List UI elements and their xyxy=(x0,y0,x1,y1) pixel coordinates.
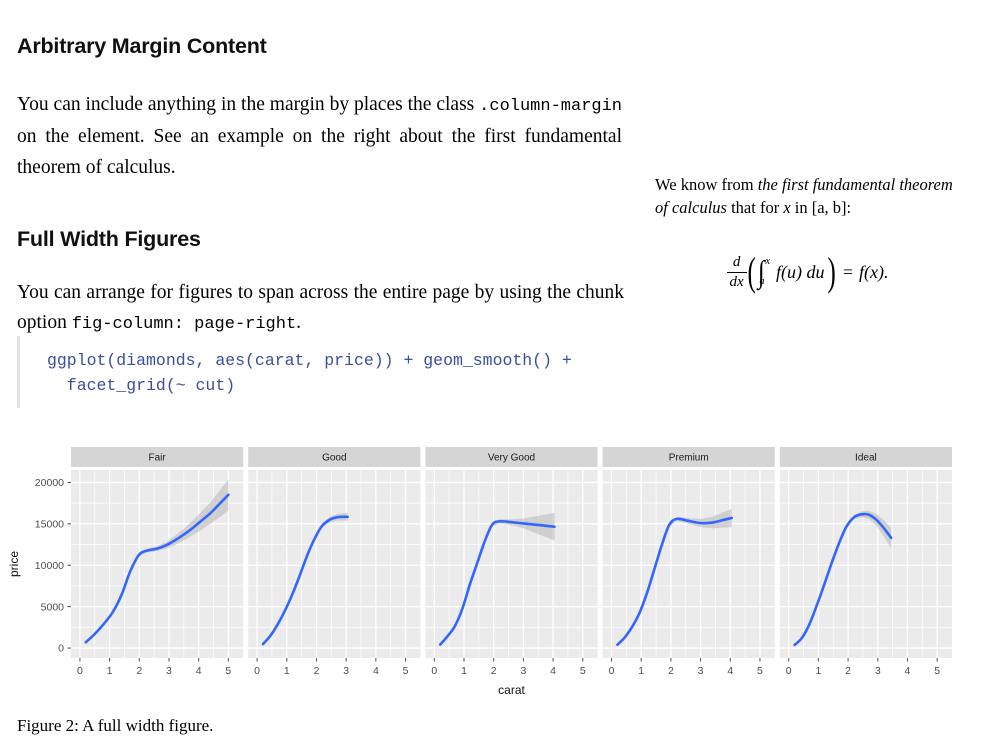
x-tick-label: 3 xyxy=(698,665,704,677)
derivative-fraction: d dx xyxy=(727,254,747,289)
integral-sign: ∫ xyxy=(758,261,765,283)
x-tick-label: 0 xyxy=(254,665,260,677)
margin-note: We know from the first fundamental theor… xyxy=(655,173,960,219)
x-tick-label: 0 xyxy=(431,665,437,677)
figure-full-width: Fair012345Good012345Very Good012345Premi… xyxy=(0,430,1000,749)
figure-caption: Figure 2: A full width figure. xyxy=(17,716,213,736)
y-tick-label: 20000 xyxy=(35,477,64,489)
facet-strip-label-very-good: Very Good xyxy=(488,453,535,464)
integral-group: ∫ x a xyxy=(757,256,770,288)
x-tick-label: 2 xyxy=(491,665,497,677)
x-tick-label: 2 xyxy=(845,665,851,677)
x-tick-label: 2 xyxy=(668,665,674,677)
x-tick-label: 1 xyxy=(638,665,644,677)
paragraph-full-width: You can arrange for figures to span acro… xyxy=(17,278,624,341)
code-line-2: facet_grid(~ cut) xyxy=(47,376,235,395)
x-tick-label: 5 xyxy=(403,665,409,677)
y-tick-label: 5000 xyxy=(41,601,65,613)
inline-code-fig-column: fig-column: page-right xyxy=(72,315,296,334)
fraction-denominator: dx xyxy=(727,272,747,290)
margin-formula: d dx ( ∫ x a f(u) du ) = f(x). xyxy=(655,243,960,301)
margin-note-text-before: We know from xyxy=(655,175,758,194)
x-tick-label: 4 xyxy=(727,665,733,677)
page-title-arbitrary-margin-content: Arbitrary Margin Content xyxy=(17,34,267,59)
equals-sign: = xyxy=(843,262,853,283)
x-tick-label: 3 xyxy=(520,665,526,677)
x-tick-label: 5 xyxy=(934,665,940,677)
x-tick-label: 1 xyxy=(461,665,467,677)
formula-expression: d dx ( ∫ x a f(u) du ) = f(x). xyxy=(727,254,889,289)
x-tick-label: 5 xyxy=(757,665,763,677)
code-block-content: ggplot(diamonds, aes(carat, price)) + ge… xyxy=(20,336,677,398)
facet-strip-label-fair: Fair xyxy=(148,453,166,464)
x-tick-label: 5 xyxy=(580,665,586,677)
y-tick-label: 10000 xyxy=(35,560,64,572)
paragraph-text-pre: You can include anything in the margin b… xyxy=(17,94,479,115)
x-tick-label: 4 xyxy=(905,665,911,677)
code-line-1: ggplot(diamonds, aes(carat, price)) + ge… xyxy=(47,351,572,370)
x-tick-label: 4 xyxy=(373,665,379,677)
facet-strip-label-premium: Premium xyxy=(669,453,709,464)
margin-note-interval: in [a, b]: xyxy=(791,198,851,217)
margin-note-text-after: that for xyxy=(727,198,783,217)
inline-code-column-margin: .column-margin xyxy=(479,97,622,116)
x-tick-label: 3 xyxy=(343,665,349,677)
page-title-full-width-figures: Full Width Figures xyxy=(17,227,201,252)
x-tick-label: 2 xyxy=(136,665,142,677)
x-tick-label: 4 xyxy=(550,665,556,677)
code-block: ggplot(diamonds, aes(carat, price)) + ge… xyxy=(17,336,677,408)
x-tick-label: 0 xyxy=(77,665,83,677)
x-tick-label: 0 xyxy=(786,665,792,677)
facet-strip-label-good: Good xyxy=(322,453,346,464)
x-tick-label: 1 xyxy=(107,665,113,677)
fraction-numerator: d xyxy=(730,254,744,271)
formula-right-hand-side: f(x). xyxy=(859,262,888,283)
ggplot-facet-chart: Fair012345Good012345Very Good012345Premi… xyxy=(0,430,1000,720)
x-tick-label: 1 xyxy=(815,665,821,677)
integrand: f(u) du xyxy=(776,262,825,283)
paragraph-text-post: . xyxy=(296,312,301,333)
x-tick-label: 4 xyxy=(196,665,202,677)
margin-note-variable: x xyxy=(783,198,790,217)
x-tick-label: 3 xyxy=(875,665,881,677)
paragraph-text-post: on the element. See an example on the ri… xyxy=(17,126,622,178)
facet-strip-label-ideal: Ideal xyxy=(855,453,877,464)
close-paren: ) xyxy=(828,256,836,287)
integral-upper-limit: x xyxy=(766,257,770,268)
x-tick-label: 3 xyxy=(166,665,172,677)
x-tick-label: 1 xyxy=(284,665,290,677)
x-axis-title: carat xyxy=(498,683,525,697)
open-paren: ( xyxy=(747,256,755,287)
x-tick-label: 5 xyxy=(225,665,231,677)
y-tick-label: 15000 xyxy=(35,518,64,530)
y-tick-label: 0 xyxy=(58,643,64,655)
x-tick-label: 2 xyxy=(314,665,320,677)
y-axis-title: price xyxy=(7,551,21,577)
paragraph-margin-content: You can include anything in the margin b… xyxy=(17,90,622,184)
x-tick-label: 0 xyxy=(609,665,615,677)
